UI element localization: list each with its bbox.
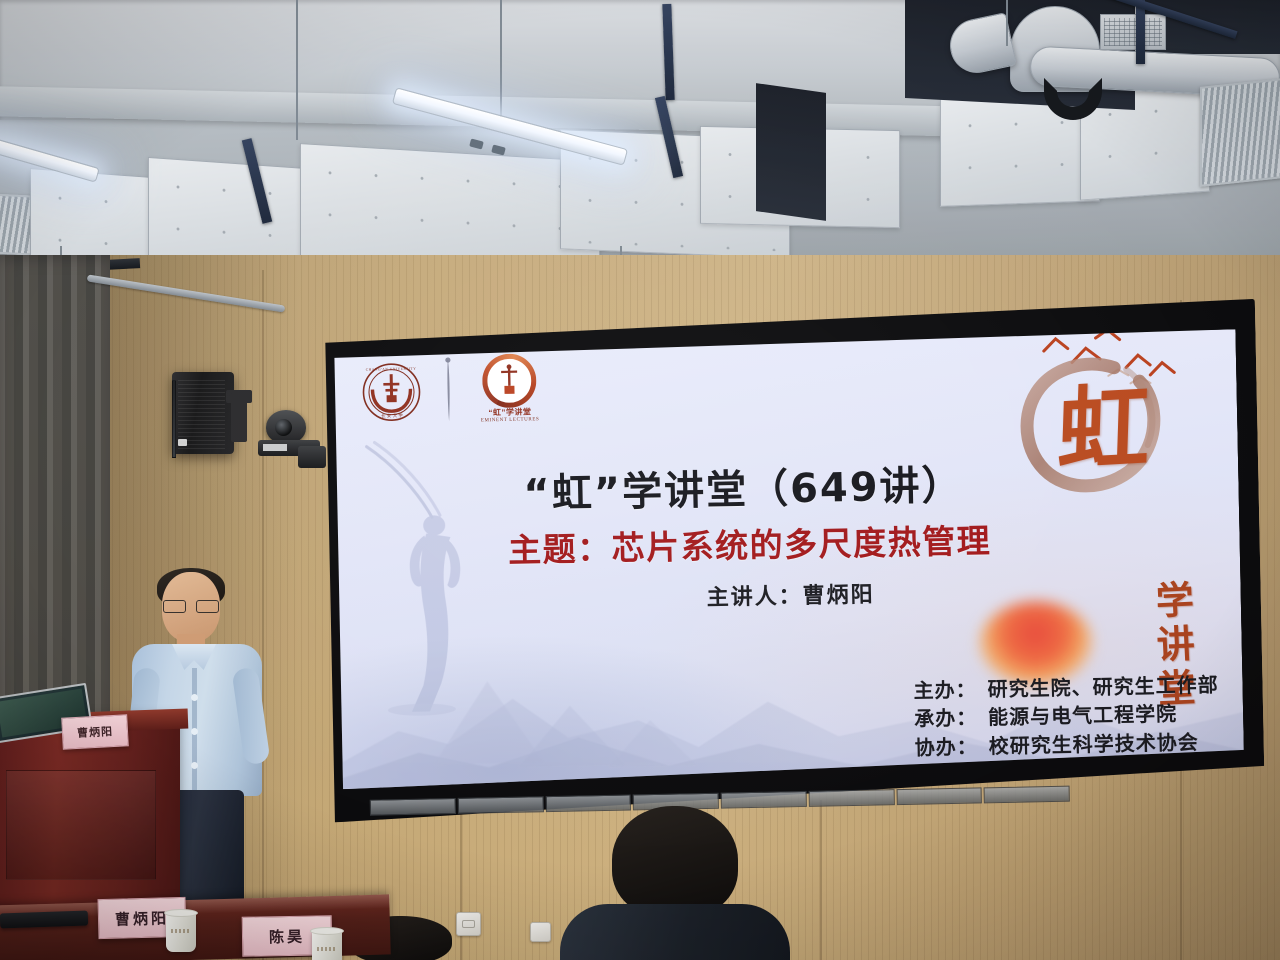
audience-head (612, 806, 738, 918)
lecture-logo-en-label: EMINENT LECTURES (472, 417, 548, 424)
wall-switch[interactable] (530, 922, 551, 942)
shirt-button (191, 728, 198, 735)
organizer-label: 主办： (913, 675, 980, 705)
wall-seam (820, 800, 822, 960)
eyeglasses-icon (163, 600, 219, 613)
vertical-char: 讲 (1145, 621, 1207, 668)
light-fitting (469, 138, 484, 149)
brush-divider (443, 357, 454, 423)
organizer-value: 能源与电气工程学院 (988, 702, 1177, 730)
university-logo: CHANG'AN UNIVERSITY 长 安 大 学 (361, 362, 422, 423)
led-module (370, 798, 456, 816)
shirt-button (191, 762, 198, 769)
lectern-front-panel (6, 770, 156, 880)
cup-pattern (171, 929, 190, 933)
speaker-mount-bracket (226, 390, 252, 403)
shirt-button (191, 694, 198, 701)
ac-vent-grid (1104, 18, 1162, 46)
lecture-series-logo: “虹”学讲堂 EMINENT LECTURES (471, 353, 548, 427)
organizer-label: 承办： (914, 704, 981, 734)
wall-speaker (172, 372, 234, 454)
organizer-label: 协办： (914, 732, 981, 762)
ac-unit (1100, 14, 1166, 50)
camera-lens-icon (275, 419, 292, 436)
camera-dome (266, 410, 306, 444)
nameplate-podium: 曹炳阳 (61, 714, 129, 749)
enso-ring-icon (482, 353, 537, 408)
mobile-phone[interactable] (0, 910, 88, 928)
led-display-screen: CHANG'AN UNIVERSITY 长 安 大 学 (300, 299, 1265, 823)
led-module (896, 787, 982, 805)
slide-organizers: 主办： 研究生院、研究生工作部 承办： 能源与电气工程学院 协办： 校研究生科学… (913, 670, 1220, 761)
audience-member (560, 806, 790, 960)
cup-pattern (317, 947, 336, 951)
hong-calligraphy-character: 虹 (1056, 381, 1151, 478)
paper-cup (166, 912, 196, 952)
lecture-hall-photo: CHANG'AN UNIVERSITY 长 安 大 学 (0, 0, 1280, 960)
air-grille-icon (1200, 77, 1280, 187)
wall-seam (262, 270, 264, 960)
presentation-slide: CHANG'AN UNIVERSITY 长 安 大 学 (331, 329, 1245, 789)
camera-label-strip (263, 444, 287, 451)
audience-shoulders (560, 904, 790, 960)
speaker-led-icon (178, 439, 187, 446)
light-hanger (500, 0, 502, 120)
organizer-value: 研究生院、研究生工作部 (987, 672, 1218, 701)
light-hanger (1006, 0, 1008, 46)
vertical-char: 学 (1144, 577, 1206, 624)
led-module (457, 796, 543, 814)
led-module (808, 789, 894, 807)
lecture-logo-figure-icon (496, 364, 523, 399)
ceiling-void (756, 83, 826, 221)
slide-title: “虹”学讲堂（649讲） (453, 451, 1034, 521)
wall-mounted-panel (172, 380, 176, 458)
ceiling-beam (1136, 0, 1145, 64)
slide-subtitle: 主题：芯片系统的多尺度热管理 (429, 513, 1070, 574)
paper-cup (312, 930, 342, 960)
led-module (984, 786, 1070, 804)
light-hanger (296, 0, 298, 140)
